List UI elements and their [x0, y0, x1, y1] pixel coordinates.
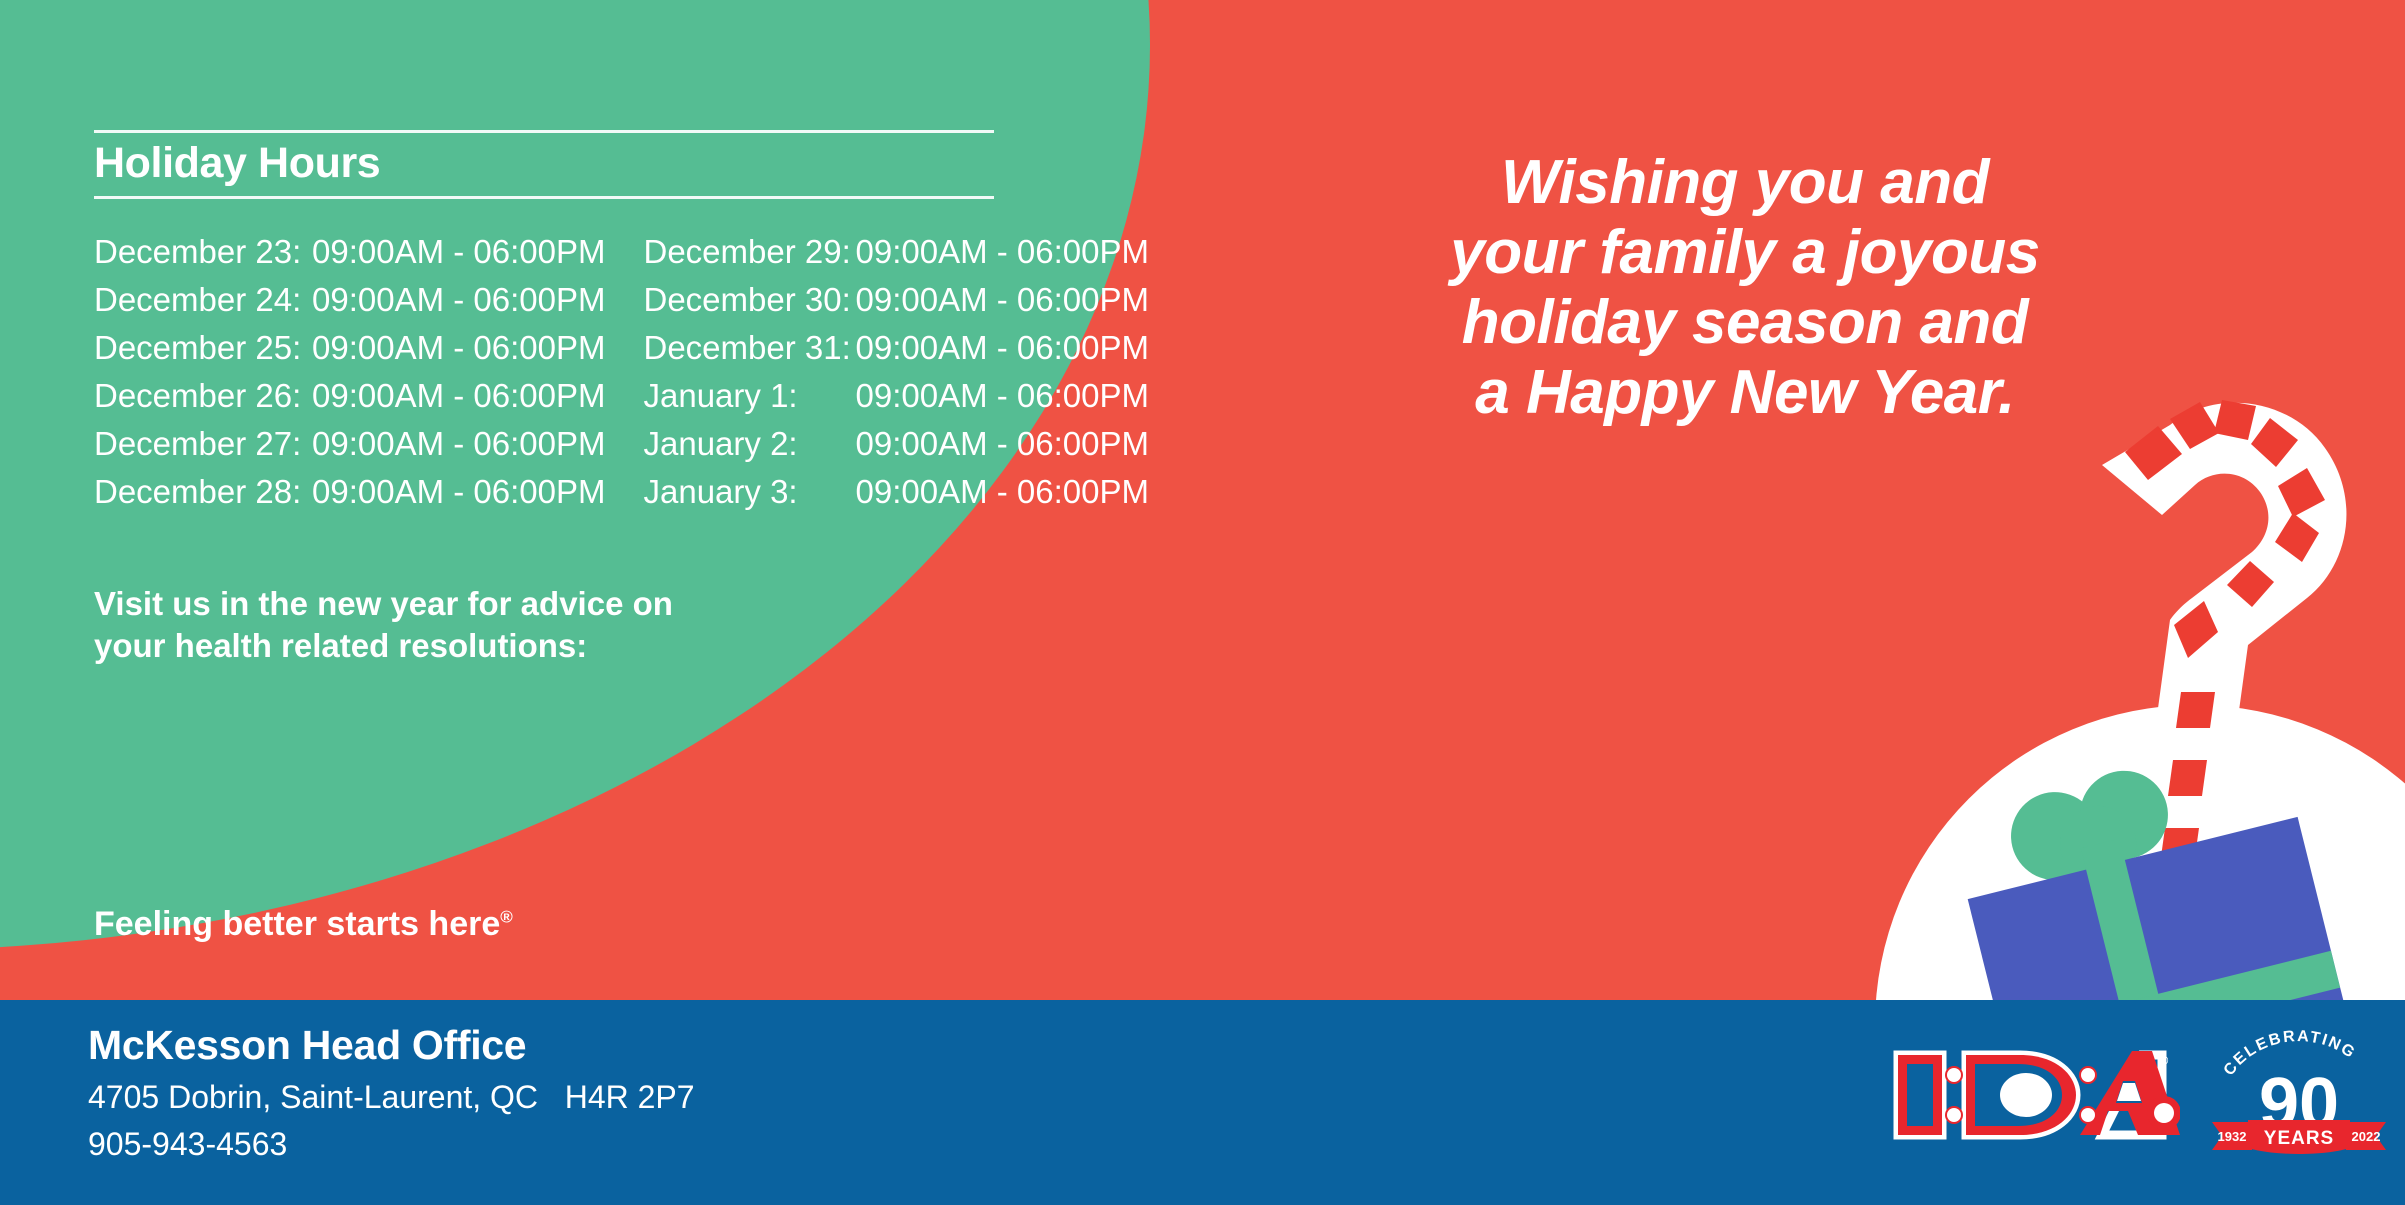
holiday-hours-panel: Holiday Hours December 23: 09:00AM - 06:…	[94, 130, 1114, 667]
hours-day: January 3:	[644, 473, 856, 511]
hours-time: 09:00AM - 06:00PM	[856, 377, 1150, 415]
hours-time: 09:00AM - 06:00PM	[312, 329, 606, 367]
hours-day: December 28:	[94, 473, 312, 511]
badge-year-end: 2022	[2352, 1129, 2381, 1144]
brand-tagline: Feeling better starts here®	[94, 905, 513, 944]
hours-day: December 30:	[644, 281, 856, 319]
hours-time: 09:00AM - 06:00PM	[312, 473, 606, 511]
hours-time: 09:00AM - 06:00PM	[312, 281, 606, 319]
holiday-illustration	[1870, 370, 2405, 1010]
hours-time: 09:00AM - 06:00PM	[312, 233, 606, 271]
footer-logos: ® CELEBRATING 90 1932 2022 YEARS	[1880, 1030, 2394, 1160]
hours-row: December 23: 09:00AM - 06:00PM	[94, 233, 606, 281]
badge-years: YEARS	[2264, 1128, 2334, 1149]
badge-year-start: 1932	[2218, 1129, 2247, 1144]
hours-column-2: December 29: 09:00AM - 06:00PM December …	[644, 233, 1150, 521]
holiday-banner: Holiday Hours December 23: 09:00AM - 06:…	[0, 0, 2405, 1205]
hours-day: January 2:	[644, 425, 856, 463]
hours-day: January 1:	[644, 377, 856, 415]
hours-day: December 24:	[94, 281, 312, 319]
anniversary-badge: CELEBRATING 90 1932 2022 YEARS	[2204, 1030, 2394, 1160]
hours-row: December 27: 09:00AM - 06:00PM	[94, 425, 606, 473]
hours-row: January 1: 09:00AM - 06:00PM	[644, 377, 1150, 425]
footer-address-block: McKesson Head Office 4705 Dobrin, Saint-…	[88, 1022, 695, 1163]
ida-registered-mark: ®	[2158, 1052, 2169, 1068]
ida-logo: ®	[1880, 1035, 2180, 1155]
hours-day: December 29:	[644, 233, 856, 271]
hours-time: 09:00AM - 06:00PM	[856, 425, 1150, 463]
hours-row: December 31: 09:00AM - 06:00PM	[644, 329, 1150, 377]
hours-row: December 29: 09:00AM - 06:00PM	[644, 233, 1150, 281]
hours-day: December 26:	[94, 377, 312, 415]
hours-row: December 28: 09:00AM - 06:00PM	[94, 473, 606, 521]
hours-time: 09:00AM - 06:00PM	[312, 377, 606, 415]
office-name: McKesson Head Office	[88, 1022, 695, 1069]
illustration-svg	[1870, 370, 2405, 1010]
hours-row: December 24: 09:00AM - 06:00PM	[94, 281, 606, 329]
hours-row: December 26: 09:00AM - 06:00PM	[94, 377, 606, 425]
hours-grid: December 23: 09:00AM - 06:00PM December …	[94, 233, 1114, 521]
office-address: 4705 Dobrin, Saint-Laurent, QC H4R 2P7	[88, 1079, 695, 1116]
divider-bottom	[94, 196, 994, 199]
registered-mark: ®	[500, 908, 513, 927]
hours-day: December 25:	[94, 329, 312, 367]
hours-row: December 30: 09:00AM - 06:00PM	[644, 281, 1150, 329]
hours-row: January 2: 09:00AM - 06:00PM	[644, 425, 1150, 473]
hours-time: 09:00AM - 06:00PM	[856, 329, 1150, 367]
hours-column-1: December 23: 09:00AM - 06:00PM December …	[94, 233, 606, 521]
office-phone: 905-943-4563	[88, 1126, 695, 1163]
brand-tagline-text: Feeling better starts here	[94, 905, 500, 943]
hours-day: December 23:	[94, 233, 312, 271]
hours-day: December 31:	[644, 329, 856, 367]
hours-time: 09:00AM - 06:00PM	[312, 425, 606, 463]
hours-time: 09:00AM - 06:00PM	[856, 473, 1150, 511]
visit-note: Visit us in the new year for advice on y…	[94, 583, 1114, 667]
hours-time: 09:00AM - 06:00PM	[856, 281, 1150, 319]
hours-time: 09:00AM - 06:00PM	[856, 233, 1150, 271]
holiday-hours-title: Holiday Hours	[94, 133, 1114, 196]
hours-row: January 3: 09:00AM - 06:00PM	[644, 473, 1150, 521]
hours-day: December 27:	[94, 425, 312, 463]
hours-row: December 25: 09:00AM - 06:00PM	[94, 329, 606, 377]
divider-top	[94, 130, 994, 133]
